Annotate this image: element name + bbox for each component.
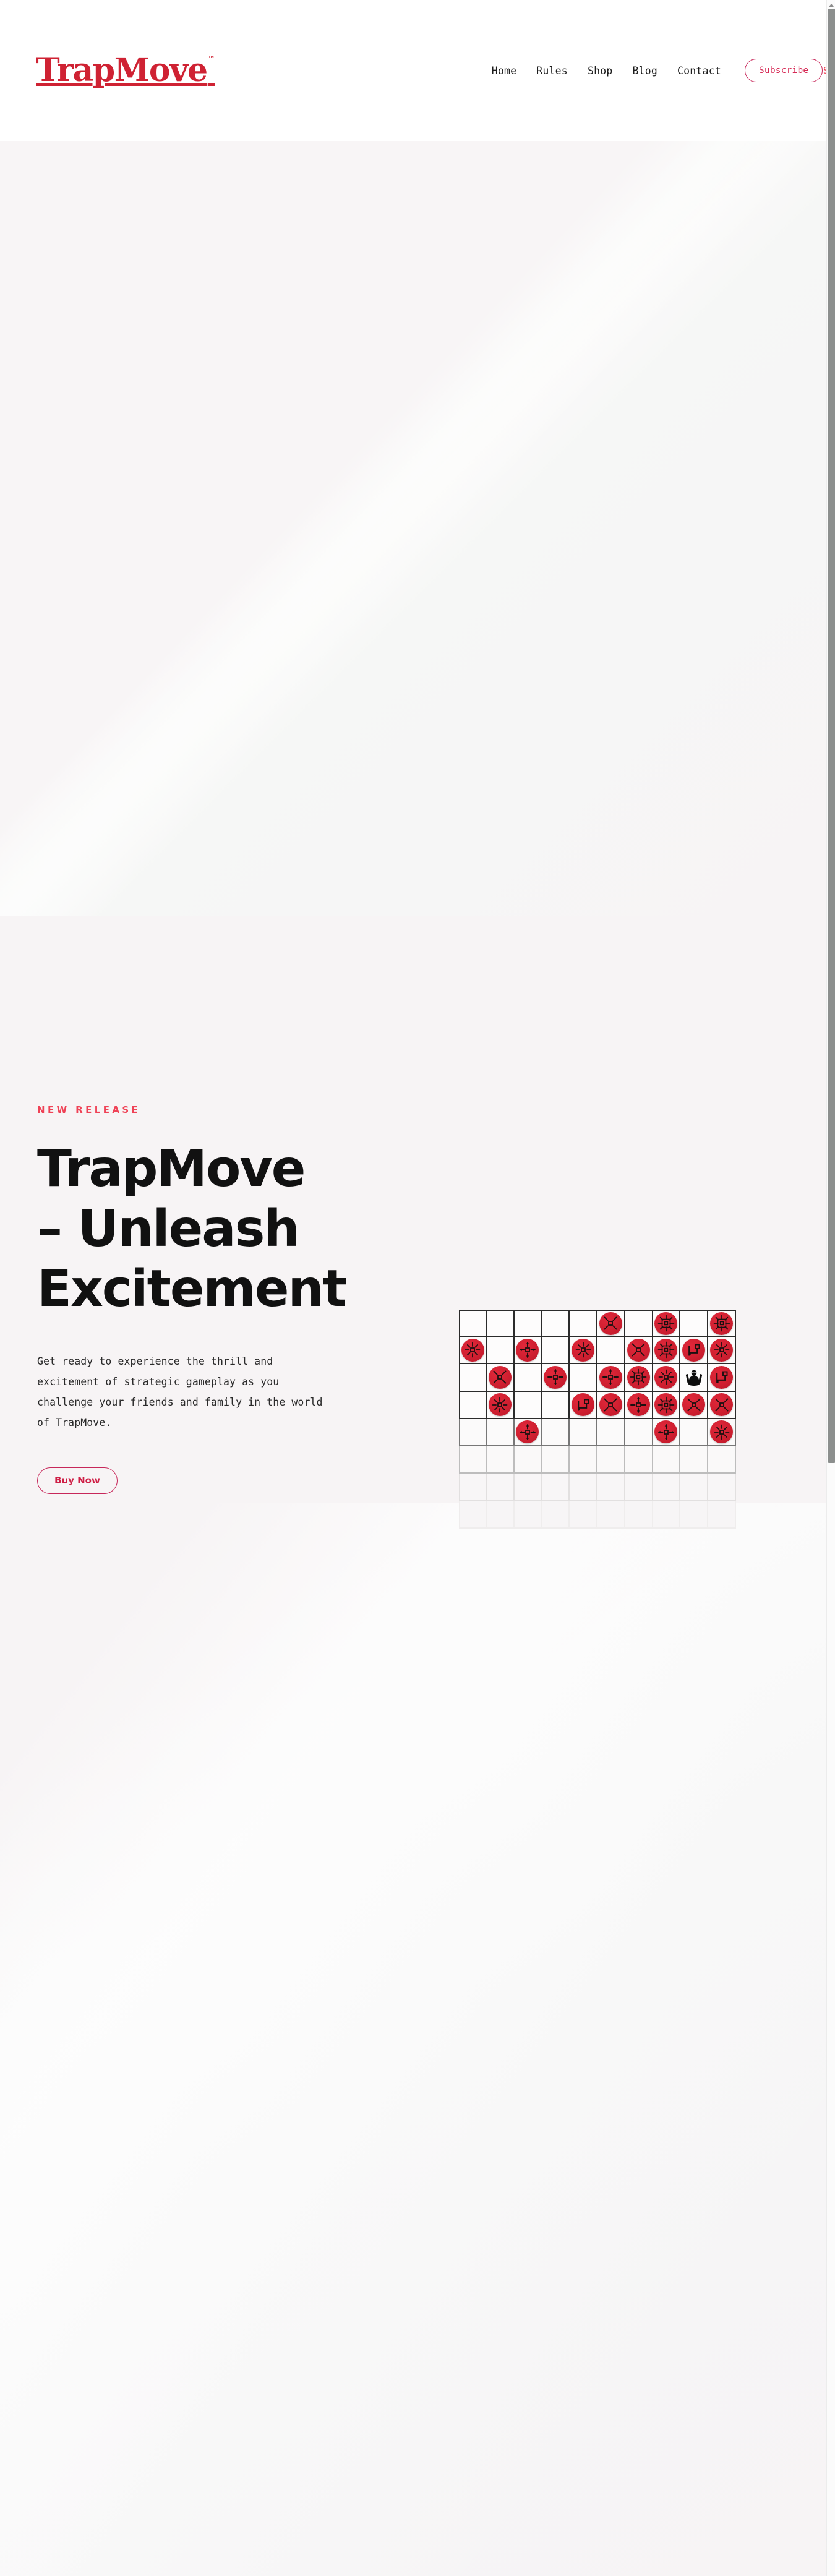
board-piece-burst[interactable]: [710, 1339, 733, 1362]
board-cell[interactable]: [708, 1501, 736, 1528]
logo-trademark: ™: [208, 54, 215, 63]
board-cell[interactable]: [570, 1310, 597, 1337]
board-cell[interactable]: [680, 1501, 708, 1528]
board-cell[interactable]: [515, 1419, 542, 1446]
board-cell[interactable]: [570, 1392, 597, 1419]
board-cell[interactable]: [653, 1419, 681, 1446]
board-piece-cross[interactable]: [516, 1339, 539, 1362]
background-diagonal-bottom: [0, 1503, 826, 2576]
board-piece-burst[interactable]: [572, 1339, 594, 1362]
board-cell[interactable]: [597, 1392, 625, 1419]
board-cell[interactable]: [515, 1474, 542, 1501]
board-piece-diagonal[interactable]: [710, 1393, 733, 1416]
board-cell[interactable]: [625, 1392, 653, 1419]
hero-section: NEW RELEASE TrapMove – Unleash Excitemen…: [0, 141, 826, 1527]
board-piece-cross[interactable]: [627, 1393, 650, 1416]
board-cell[interactable]: [653, 1364, 681, 1391]
board-cell[interactable]: [542, 1337, 570, 1364]
board-piece-diagonal[interactable]: [599, 1312, 622, 1335]
board-piece-cross[interactable]: [516, 1420, 539, 1443]
board-cell[interactable]: [597, 1446, 625, 1474]
board-cell[interactable]: [625, 1364, 653, 1391]
board-cell[interactable]: [487, 1392, 515, 1419]
board-cell[interactable]: [487, 1446, 515, 1474]
main-navigation: Home Rules Shop Blog Contact Subscribe: [482, 59, 823, 83]
board-cell[interactable]: [708, 1446, 736, 1474]
board-cell[interactable]: [487, 1474, 515, 1501]
game-board[interactable]: [459, 1310, 736, 1600]
board-cell[interactable]: [708, 1337, 736, 1364]
board-cell[interactable]: [515, 1446, 542, 1474]
hero-copy: NEW RELEASE TrapMove – Unleash Excitemen…: [37, 1104, 383, 1494]
board-cell[interactable]: [680, 1392, 708, 1419]
page-scrollbar[interactable]: [826, 0, 835, 2576]
page-title: TrapMove – Unleash Excitement: [37, 1140, 328, 1319]
board-cell[interactable]: [570, 1501, 597, 1528]
board-cell[interactable]: [570, 1337, 597, 1364]
board-cell[interactable]: [708, 1392, 736, 1419]
board-piece-diagonal[interactable]: [489, 1366, 512, 1389]
nav-link-home[interactable]: Home: [482, 65, 527, 77]
buy-now-button[interactable]: Buy Now: [37, 1467, 118, 1494]
board-cell[interactable]: [459, 1310, 487, 1337]
board-piece-corner[interactable]: [682, 1339, 705, 1362]
board-cell[interactable]: [542, 1474, 570, 1501]
board-cell[interactable]: [708, 1310, 736, 1337]
logo-text: TrapMove: [36, 51, 207, 89]
board-cell[interactable]: [625, 1337, 653, 1364]
board-piece-star[interactable]: [710, 1312, 733, 1335]
scrollbar-thumb[interactable]: [828, 9, 835, 1463]
board-cell[interactable]: [625, 1419, 653, 1446]
board-cell[interactable]: [459, 1446, 487, 1474]
site-logo[interactable]: TrapMove™: [36, 54, 215, 87]
board-piece-burst[interactable]: [654, 1366, 677, 1389]
board-cell[interactable]: [487, 1364, 515, 1391]
scroll-up-arrow-icon[interactable]: [827, 1, 835, 9]
board-cell[interactable]: [542, 1392, 570, 1419]
board-cell[interactable]: [680, 1310, 708, 1337]
nav-link-shop[interactable]: Shop: [578, 65, 623, 77]
board-cell[interactable]: [653, 1392, 681, 1419]
board-cell[interactable]: [708, 1364, 736, 1391]
board-cell[interactable]: [459, 1337, 487, 1364]
board-cell[interactable]: [680, 1474, 708, 1501]
nav-link-blog[interactable]: Blog: [622, 65, 667, 77]
board-cell[interactable]: [597, 1501, 625, 1528]
board-cell[interactable]: [653, 1501, 681, 1528]
board-cell[interactable]: [487, 1419, 515, 1446]
board-cell[interactable]: [625, 1474, 653, 1501]
board-piece-star[interactable]: [654, 1393, 677, 1416]
nav-link-rules[interactable]: Rules: [526, 65, 578, 77]
board-piece-star[interactable]: [627, 1366, 650, 1389]
board-piece-star[interactable]: [654, 1339, 677, 1362]
board-cell[interactable]: [459, 1419, 487, 1446]
board-cell[interactable]: [597, 1474, 625, 1501]
board-piece-diagonal[interactable]: [599, 1393, 622, 1416]
board-cell[interactable]: [653, 1310, 681, 1337]
board-cell[interactable]: [515, 1337, 542, 1364]
board-cell[interactable]: [597, 1419, 625, 1446]
board-cell[interactable]: [487, 1310, 515, 1337]
board-cell[interactable]: [570, 1419, 597, 1446]
board-piece-cross[interactable]: [544, 1366, 567, 1389]
nav-link-contact[interactable]: Contact: [667, 65, 731, 77]
board-piece-burst[interactable]: [710, 1420, 733, 1443]
player-figure-icon: [683, 1367, 704, 1388]
board-cell[interactable]: [542, 1364, 570, 1391]
board-piece-corner[interactable]: [710, 1366, 733, 1389]
board-piece-diagonal[interactable]: [682, 1393, 705, 1416]
board-cell[interactable]: [680, 1364, 708, 1391]
board-cell[interactable]: [625, 1501, 653, 1528]
board-cell[interactable]: [597, 1337, 625, 1364]
board-cell[interactable]: [680, 1446, 708, 1474]
board-cell[interactable]: [625, 1446, 653, 1474]
board-cell[interactable]: [653, 1446, 681, 1474]
game-board-grid[interactable]: [459, 1310, 736, 1529]
board-cell[interactable]: [459, 1501, 487, 1528]
board-cell[interactable]: [542, 1310, 570, 1337]
board-cell[interactable]: [459, 1474, 487, 1501]
board-cell[interactable]: [570, 1364, 597, 1391]
board-piece-star[interactable]: [654, 1312, 677, 1335]
board-cell[interactable]: [515, 1501, 542, 1528]
board-cell[interactable]: [515, 1364, 542, 1391]
board-cell[interactable]: [487, 1501, 515, 1528]
board-cell[interactable]: [708, 1419, 736, 1446]
board-piece-burst[interactable]: [461, 1339, 484, 1362]
player-figure-icon: [682, 1365, 706, 1389]
board-cell[interactable]: [653, 1337, 681, 1364]
hero-subtitle: Get ready to experience the thrill and e…: [37, 1351, 328, 1433]
board-cell[interactable]: [515, 1392, 542, 1419]
board-cell[interactable]: [515, 1310, 542, 1337]
board-cell[interactable]: [542, 1419, 570, 1446]
board-piece-corner[interactable]: [572, 1393, 594, 1416]
board-cell[interactable]: [680, 1337, 708, 1364]
board-cell[interactable]: [459, 1364, 487, 1391]
board-piece-cross[interactable]: [654, 1420, 677, 1443]
board-cell[interactable]: [542, 1446, 570, 1474]
subscribe-button[interactable]: Subscribe: [745, 59, 823, 83]
board-cell[interactable]: [597, 1310, 625, 1337]
board-piece-burst[interactable]: [489, 1393, 512, 1416]
board-cell[interactable]: [459, 1392, 487, 1419]
board-piece-cross[interactable]: [599, 1366, 622, 1389]
board-cell[interactable]: [708, 1474, 736, 1501]
board-cell[interactable]: [653, 1474, 681, 1501]
board-cell[interactable]: [542, 1501, 570, 1528]
board-cell[interactable]: [597, 1364, 625, 1391]
board-cell[interactable]: [680, 1419, 708, 1446]
board-cell[interactable]: [570, 1446, 597, 1474]
board-piece-diagonal[interactable]: [627, 1339, 650, 1362]
board-cell[interactable]: [570, 1474, 597, 1501]
board-cell[interactable]: [625, 1310, 653, 1337]
board-cell[interactable]: [487, 1337, 515, 1364]
hero-eyebrow: NEW RELEASE: [37, 1104, 383, 1115]
site-header: TrapMove™ Home Rules Shop Blog Contact S…: [0, 0, 826, 141]
